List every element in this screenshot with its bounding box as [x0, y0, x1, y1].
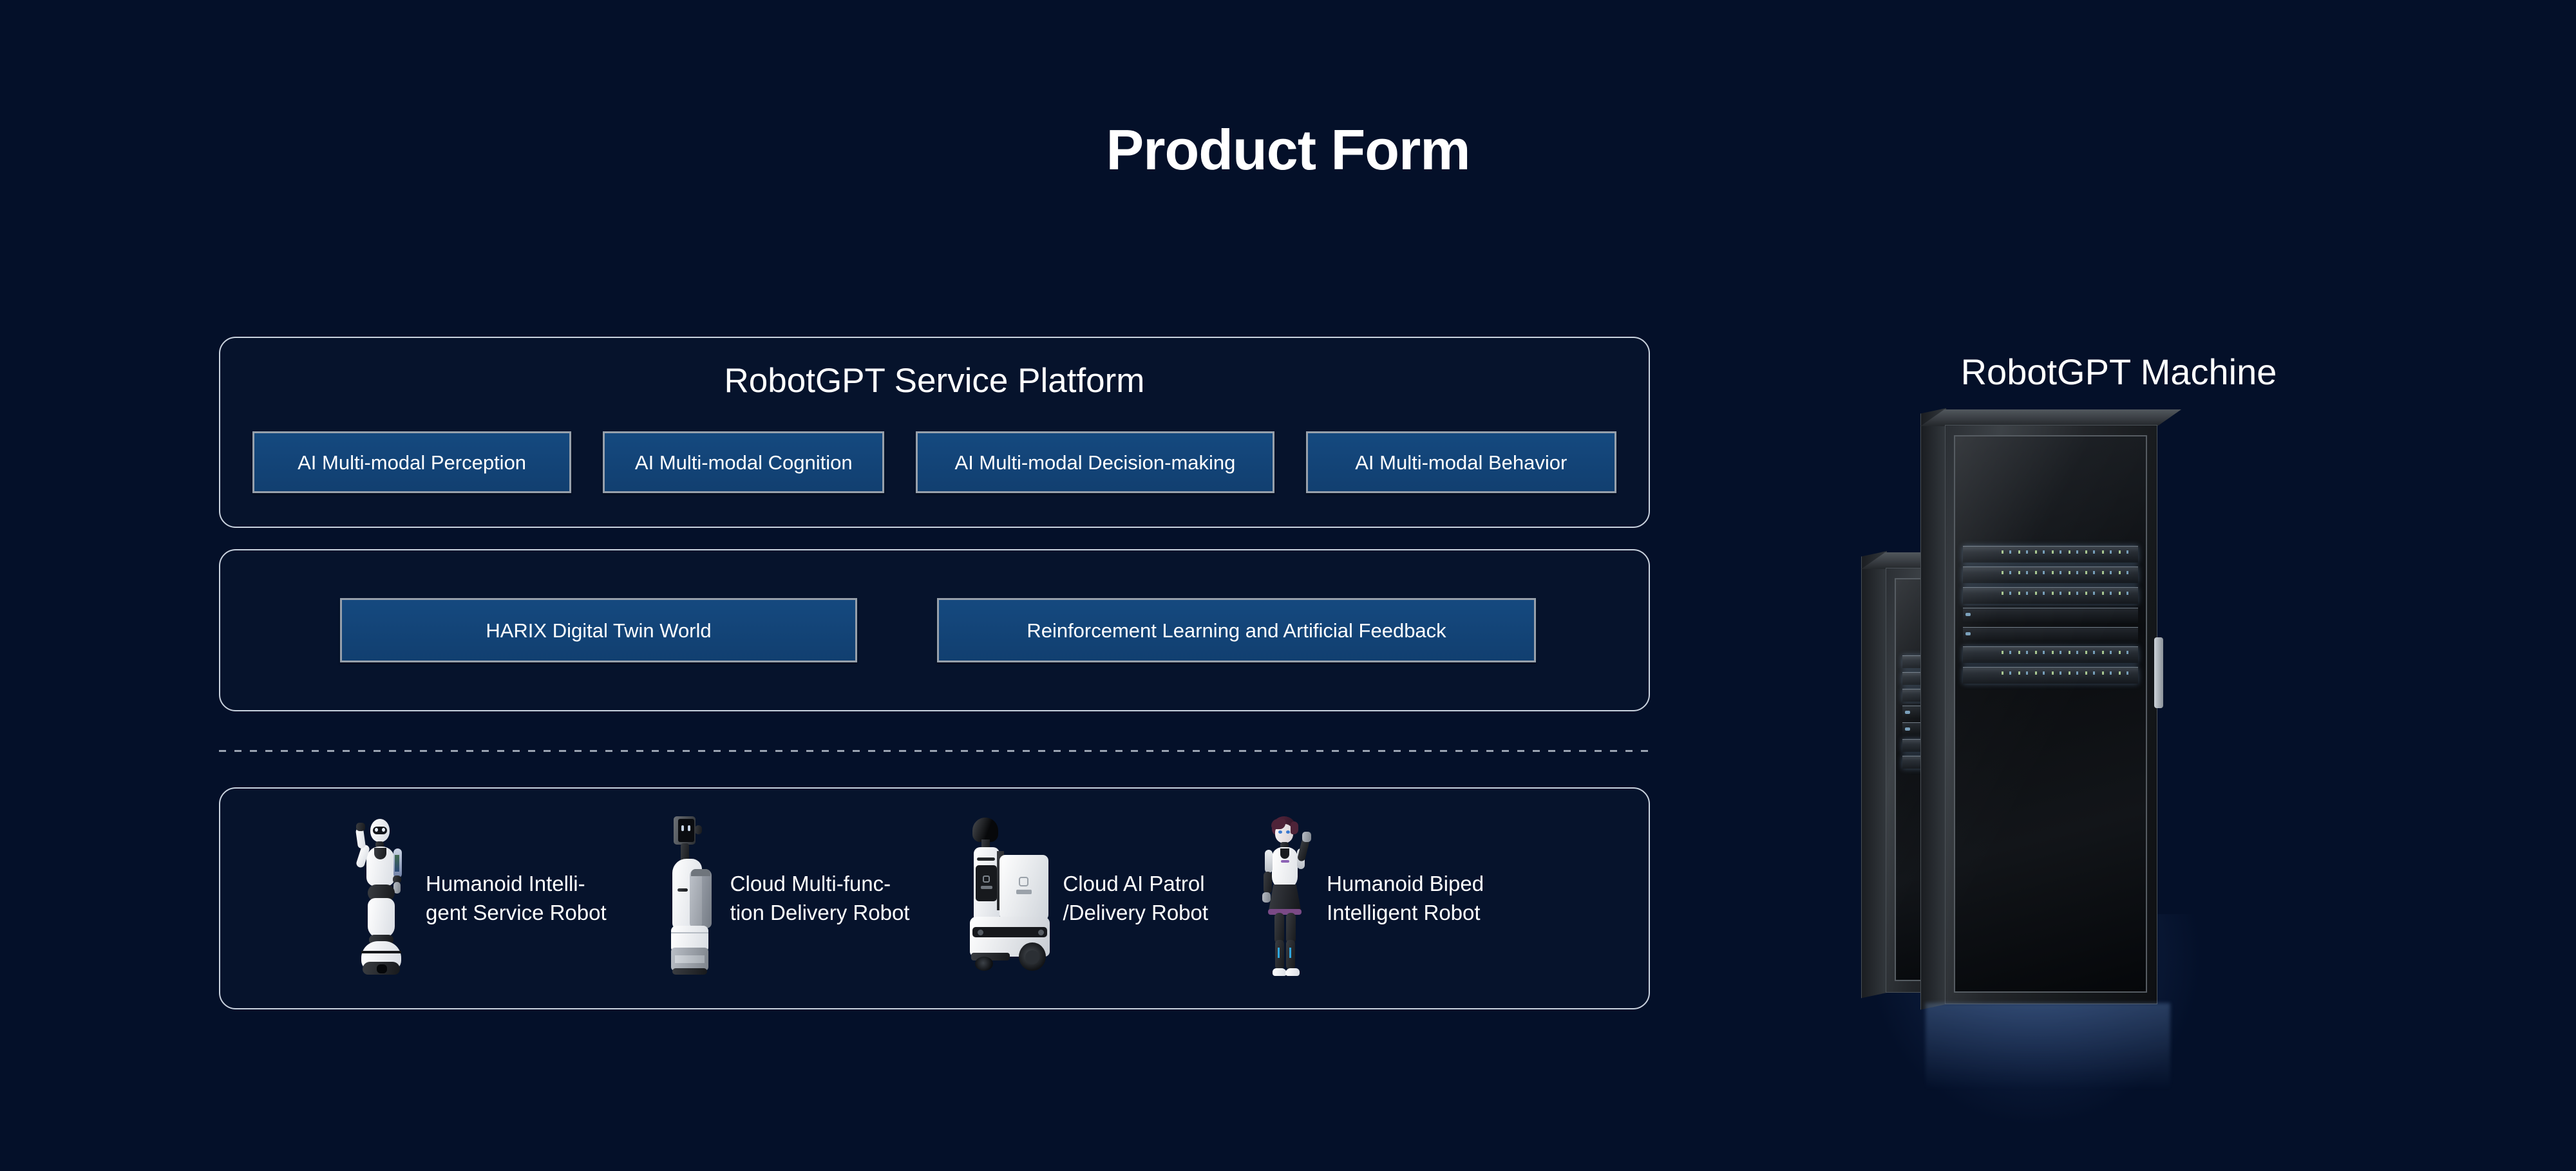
list-item-label: Humanoid Biped Intelligent Robot — [1327, 870, 1484, 927]
robot-list: Humanoid Intelli- gent Service Robot — [220, 789, 1649, 1008]
list-item-label: Cloud Multi-func- tion Delivery Robot — [730, 870, 910, 927]
humanoid-service-robot-icon — [345, 812, 417, 985]
machine-column: RobotGPT Machine — [1829, 0, 2409, 1171]
list-item[interactable]: Humanoid Intelli- gent Service Robot — [345, 812, 607, 985]
capability-chip-decision-making[interactable]: AI Multi-modal Decision-making — [916, 431, 1274, 493]
foundation-chip-harix[interactable]: HARIX Digital Twin World — [340, 598, 857, 662]
rack-door-handle[interactable] — [2154, 637, 2163, 708]
capability-chip-row: AI Multi-modal Perception AI Multi-modal… — [220, 431, 1649, 527]
list-item[interactable]: Cloud Multi-func- tion Delivery Robot — [659, 812, 910, 985]
capability-chip-cognition[interactable]: AI Multi-modal Cognition — [603, 431, 884, 493]
service-platform-title: RobotGPT Service Platform — [220, 338, 1649, 400]
cloud-delivery-robot-icon — [659, 812, 721, 985]
foundation-panel: HARIX Digital Twin World Reinforcement L… — [219, 549, 1650, 711]
humanoid-biped-robot-icon — [1251, 812, 1318, 985]
list-item-label: Humanoid Intelli- gent Service Robot — [426, 870, 607, 927]
server-rack-primary — [1945, 425, 2157, 1004]
platform-column: RobotGPT Service Platform AI Multi-modal… — [219, 337, 1650, 1009]
foundation-chip-row: HARIX Digital Twin World Reinforcement L… — [220, 598, 1536, 662]
list-item[interactable]: Cloud AI Patrol /Delivery Robot — [957, 812, 1208, 985]
server-rack-icon — [1829, 425, 2409, 1069]
list-item[interactable]: Humanoid Biped Intelligent Robot — [1251, 812, 1484, 985]
foundation-chip-rlaf[interactable]: Reinforcement Learning and Artificial Fe… — [937, 598, 1536, 662]
capability-chip-perception[interactable]: AI Multi-modal Perception — [252, 431, 571, 493]
service-platform-panel: RobotGPT Service Platform AI Multi-modal… — [219, 337, 1650, 528]
section-divider — [219, 750, 1650, 752]
patrol-delivery-robot-icon — [957, 812, 1054, 985]
robot-products-panel: Humanoid Intelli- gent Service Robot — [219, 787, 1650, 1009]
list-item-label: Cloud AI Patrol /Delivery Robot — [1063, 870, 1208, 927]
machine-title: RobotGPT Machine — [1829, 351, 2409, 393]
capability-chip-behavior[interactable]: AI Multi-modal Behavior — [1306, 431, 1616, 493]
